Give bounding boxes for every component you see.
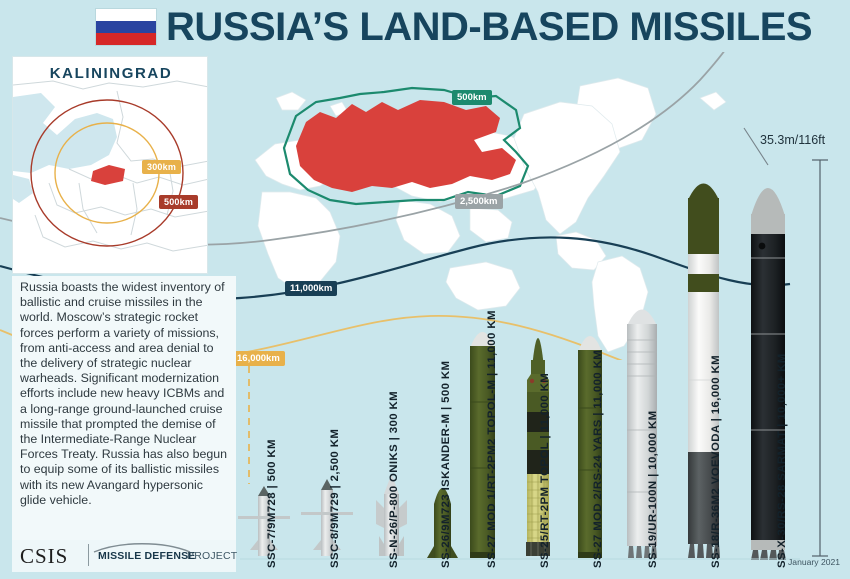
missile-label-topol: SS-25/RT-2PM TOPOL | 11,000 KM: [539, 373, 551, 568]
date-label: January 2021: [788, 557, 840, 567]
project-label: PROJECT: [187, 550, 237, 562]
missile-label-voevoda: SS-18/R-36M2 VOEVODA | 16,000 KM: [710, 355, 722, 568]
missile-label-ur-100n: SS-19/UR-100N | 10,000 KM: [647, 410, 659, 568]
infographic-root: RUSSIA’S LAND-BASED MISSILES: [0, 0, 850, 579]
kaliningrad-inset-map: KALININGRAD 300km 500km: [12, 56, 208, 274]
missile-label-iskander-m: SS-26/9M723 ISKANDER-M | 500 KM: [440, 361, 452, 568]
max-height-label: 35.3m/116ft: [760, 133, 825, 147]
kaliningrad-title: KALININGRAD: [13, 65, 208, 82]
label-300km: 300km: [142, 160, 181, 174]
missile-label-ssc-8: SSC-8/9M729 | 2,500 KM: [329, 429, 341, 568]
height-scale-bar: [812, 160, 828, 556]
label-500km-inset: 500km: [159, 195, 198, 209]
csis-wordmark: CSIS: [20, 544, 68, 569]
header: RUSSIA’S LAND-BASED MISSILES: [0, 0, 850, 52]
missile-label-ssc-7: SSC-7/9M728 | 500 KM: [266, 439, 278, 568]
csis-logo: CSIS MISSILE DEFENSE PROJECT: [12, 540, 236, 572]
page-title: RUSSIA’S LAND-BASED MISSILES: [166, 3, 812, 51]
maplabel-2500km: 2,500km: [455, 194, 503, 209]
missile-label-oniks: SS-N-26/P-800 ONIKS | 300 KM: [388, 391, 400, 568]
missile-defense-label: MISSILE DEFENSE: [98, 550, 196, 562]
maplabel-500km: 500km: [452, 90, 492, 105]
missile-label-yars: SS-27 MOD 2/RS-24 YARS | 11,000 KM: [592, 350, 604, 568]
maplabel-16000km: 16,000km: [232, 351, 285, 366]
description-text: Russia boasts the widest inventory of ba…: [12, 276, 236, 540]
logo-divider: [88, 544, 89, 566]
russian-flag-icon: [95, 8, 157, 46]
missile-label-sarmat: SS-X-30/RS-28 SARMAT | 10,000+ KM: [776, 353, 788, 568]
missile-ssc-7: [238, 486, 290, 556]
leader-line-16000km: [246, 366, 252, 484]
maplabel-11000km: 11,000km: [285, 281, 337, 296]
missile-ssc-8: [301, 479, 353, 556]
missile-label-topol-m: SS-27 MOD 1/RT-2PM2 TOPOL-M | 11,000 KM: [486, 310, 498, 568]
